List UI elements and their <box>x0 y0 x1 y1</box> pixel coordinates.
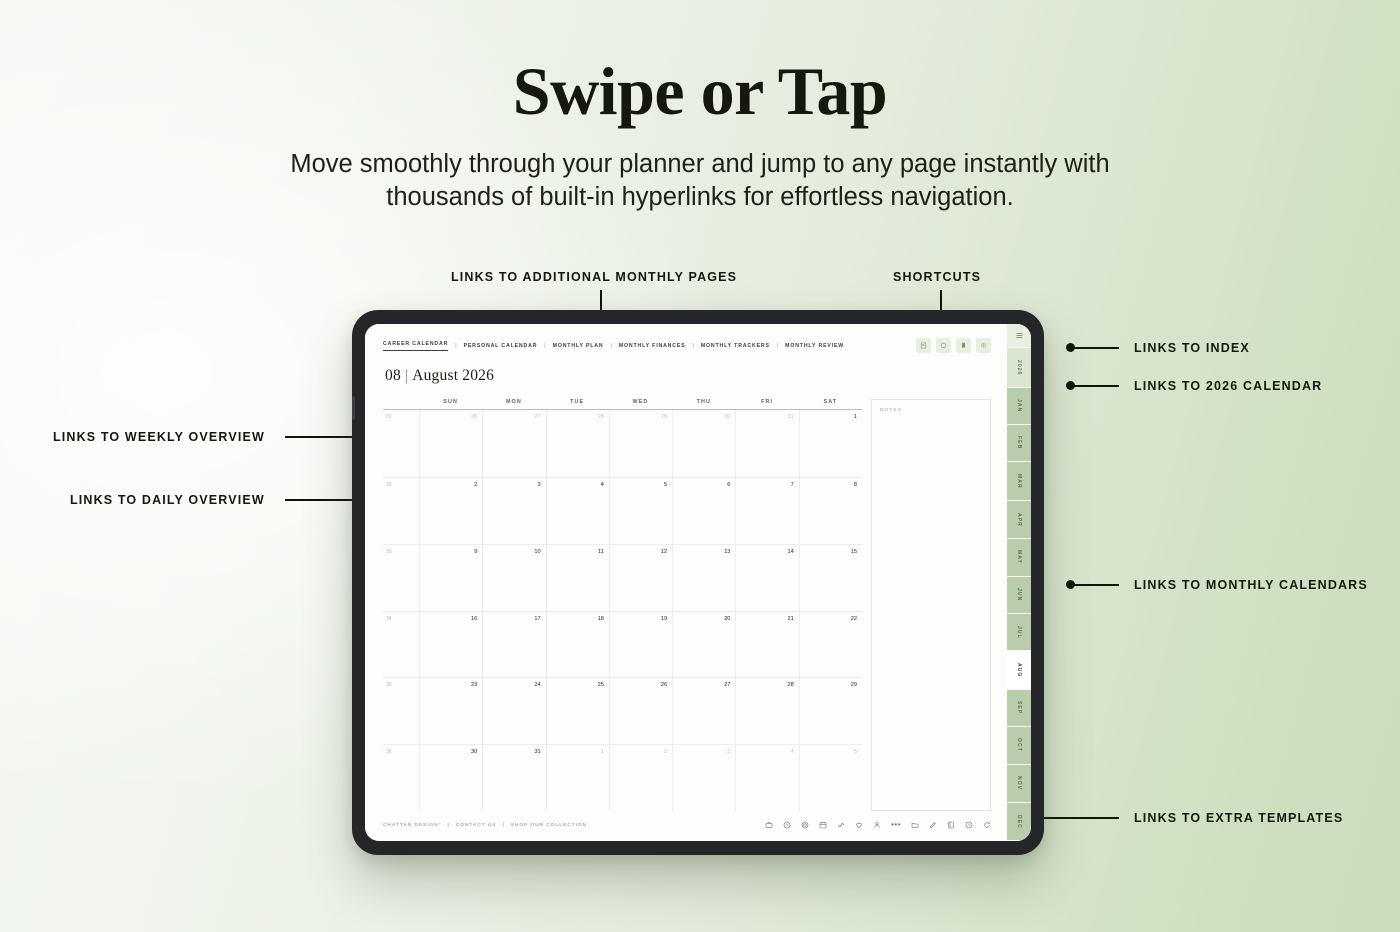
nav-link-monthly-trackers[interactable]: MONTHLY TRACKERS <box>701 343 770 349</box>
leader-line-index <box>1073 347 1119 349</box>
day-cell[interactable]: 26 <box>609 677 672 744</box>
footer-separator: | <box>447 823 449 828</box>
nav-link-monthly-plan[interactable]: MONTHLY PLAN <box>553 343 604 349</box>
leader-line-monthly-calendars <box>1073 584 1119 586</box>
rail-tab-sep[interactable]: SEP <box>1007 690 1031 727</box>
callout-links-to-extra-templates: LINKS TO EXTRA TEMPLATES <box>1134 811 1343 825</box>
settings-shortcut-icon[interactable] <box>976 338 991 353</box>
title-divider: | <box>405 367 408 384</box>
footer-link-brand[interactable]: CHATTAN DESIGN° <box>383 823 441 828</box>
day-cell[interactable]: 4 <box>735 744 798 811</box>
book-icon[interactable] <box>947 821 955 829</box>
day-cell[interactable]: 15 <box>799 544 862 611</box>
day-cell[interactable]: 8 <box>799 477 862 544</box>
rail-tab-label: OCT <box>1016 738 1022 752</box>
day-cell[interactable]: 11 <box>546 544 609 611</box>
day-cell[interactable]: 21 <box>735 611 798 678</box>
nav-separator: | <box>611 343 612 349</box>
monthly-pages-nav: CAREER CALENDAR | PERSONAL CALENDAR | MO… <box>383 338 844 351</box>
nav-link-personal-calendar[interactable]: PERSONAL CALENDAR <box>464 343 538 349</box>
day-cell[interactable]: 23 <box>419 677 482 744</box>
day-cell[interactable]: 29 <box>799 677 862 744</box>
rail-tab-label: APR <box>1016 513 1022 527</box>
month-tab-rail: 2026JANFEBMARAPRMAYJUNJULAUGSEPOCTNOVDEC <box>1007 324 1031 841</box>
rail-tab-label: JUL <box>1016 626 1022 639</box>
pencil-icon[interactable] <box>929 821 937 829</box>
callout-links-to-year-calendar: LINKS TO 2026 CALENDAR <box>1134 379 1322 393</box>
nav-link-monthly-review[interactable]: MONTHLY REVIEW <box>785 343 844 349</box>
month-name-year: August 2026 <box>412 367 494 384</box>
bookmark-shortcut-icon[interactable] <box>956 338 971 353</box>
nav-separator: | <box>777 343 778 349</box>
callout-daily-overview: LINKS TO DAILY OVERVIEW <box>70 493 265 507</box>
note-shortcut-icon[interactable] <box>916 338 931 353</box>
callout-weekly-overview: LINKS TO WEEKLY OVERVIEW <box>53 430 265 444</box>
footer-separator: | <box>502 823 504 828</box>
clock-icon[interactable] <box>783 821 791 829</box>
month-title: 08|August 2026 <box>365 353 1007 385</box>
rail-tab-aug[interactable]: AUG <box>1007 651 1031 689</box>
weekday-sat: SAT <box>799 399 862 405</box>
day-cell[interactable]: 3 <box>482 477 545 544</box>
rail-tab-label: JUN <box>1016 588 1022 601</box>
rail-tab-oct[interactable]: OCT <box>1007 727 1031 765</box>
day-cell[interactable]: 26 <box>419 410 482 477</box>
callout-links-to-monthly-calendars: LINKS TO MONTHLY CALENDARS <box>1134 578 1368 592</box>
rail-tab-feb[interactable]: FEB <box>1007 425 1031 462</box>
month-grid-wrapper: SUN MON TUE WED THU FRI SAT 312627282930… <box>383 399 862 811</box>
rail-tab-label: JAN <box>1016 399 1022 412</box>
nav-separator: | <box>544 343 545 349</box>
weekday-wed: WED <box>609 399 672 405</box>
rail-tab-nov[interactable]: NOV <box>1007 765 1031 803</box>
day-cell[interactable]: 16 <box>419 611 482 678</box>
day-cell[interactable]: 28 <box>735 677 798 744</box>
rail-tab-label: 2026 <box>1016 360 1022 376</box>
month-number: 08 <box>385 367 401 384</box>
ellipsis-icon[interactable]: ••• <box>891 823 901 827</box>
hamburger-menu-icon[interactable] <box>1007 324 1031 348</box>
heart-icon[interactable] <box>855 821 863 829</box>
rail-tab-label: DEC <box>1016 815 1022 829</box>
rail-tab-label: FEB <box>1016 436 1022 449</box>
rail-tab-apr[interactable]: APR <box>1007 501 1031 539</box>
day-cell[interactable]: 5 <box>609 477 672 544</box>
day-cell[interactable]: 24 <box>482 677 545 744</box>
tablet-device: CAREER CALENDAR | PERSONAL CALENDAR | MO… <box>352 310 1044 855</box>
week-number[interactable]: 34 <box>383 611 419 678</box>
rail-tab-dec[interactable]: DEC <box>1007 803 1031 841</box>
calendar-area: SUN MON TUE WED THU FRI SAT 312627282930… <box>365 385 1007 811</box>
weekday-mon: MON <box>482 399 545 405</box>
tablet-screen: CAREER CALENDAR | PERSONAL CALENDAR | MO… <box>365 324 1031 841</box>
day-cell[interactable]: 20 <box>672 611 735 678</box>
day-cell[interactable]: 1 <box>546 744 609 811</box>
planner-footer: CHATTAN DESIGN° | CONTACT US | SHOP OUR … <box>365 811 1007 841</box>
weekday-header-row: SUN MON TUE WED THU FRI SAT <box>383 399 862 409</box>
briefcase-icon[interactable] <box>765 821 773 829</box>
rail-tab-mar[interactable]: MAR <box>1007 462 1031 501</box>
day-cell[interactable]: 25 <box>546 677 609 744</box>
day-cell[interactable]: 28 <box>546 410 609 477</box>
callout-shortcuts: SHORTCUTS <box>893 270 981 284</box>
leader-dot-monthly-calendars <box>1066 580 1075 589</box>
notes-label: NOTES <box>880 408 982 413</box>
day-cell[interactable]: 27 <box>482 410 545 477</box>
history-icon[interactable] <box>965 821 973 829</box>
page-subtitle: Move smoothly through your planner and j… <box>220 148 1180 214</box>
planner-page: CAREER CALENDAR | PERSONAL CALENDAR | MO… <box>365 324 1007 841</box>
day-cell[interactable]: 2 <box>419 477 482 544</box>
subtitle-line-1: Move smoothly through your planner and j… <box>290 150 1109 178</box>
person-icon[interactable] <box>873 821 881 829</box>
leader-dot-year-calendar <box>1066 381 1075 390</box>
day-cell[interactable]: 12 <box>609 544 672 611</box>
planner-topbar: CAREER CALENDAR | PERSONAL CALENDAR | MO… <box>365 324 1007 353</box>
rail-tab-label: AUG <box>1016 663 1022 677</box>
refresh-icon[interactable] <box>983 821 991 829</box>
nav-link-career-calendar[interactable]: CAREER CALENDAR <box>383 341 448 351</box>
footer-link-contact-us[interactable]: CONTACT US <box>456 823 497 828</box>
footer-link-shop-collection[interactable]: SHOP OUR COLLECTION <box>511 823 587 828</box>
folder-icon[interactable] <box>911 821 919 829</box>
week-number[interactable]: 36 <box>383 744 419 811</box>
callout-links-to-index: LINKS TO INDEX <box>1134 341 1250 355</box>
page-title: Swipe or Tap <box>0 52 1400 131</box>
day-cell[interactable]: 17 <box>482 611 545 678</box>
day-cell[interactable]: 31 <box>735 410 798 477</box>
target-icon[interactable] <box>801 821 809 829</box>
day-cell[interactable]: 3 <box>672 744 735 811</box>
shortcut-buttons <box>916 338 991 353</box>
weekday-tue: TUE <box>546 399 609 405</box>
day-cell[interactable]: 22 <box>799 611 862 678</box>
subtitle-line-2: thousands of built-in hyperlinks for eff… <box>220 181 1180 214</box>
sticker-shortcut-icon[interactable] <box>936 338 951 353</box>
rail-tab-jun[interactable]: JUN <box>1007 577 1031 614</box>
week-number[interactable]: 33 <box>383 544 419 611</box>
day-cell[interactable]: 6 <box>672 477 735 544</box>
nav-separator: | <box>455 343 456 349</box>
day-cell[interactable]: 29 <box>609 410 672 477</box>
month-grid: 3126272829303113223456783391011121314153… <box>383 409 862 811</box>
rail-tab-label: MAY <box>1016 550 1022 564</box>
leader-dot-index <box>1066 343 1075 352</box>
nav-separator: | <box>693 343 694 349</box>
weekday-thu: THU <box>672 399 735 405</box>
calendar-icon[interactable] <box>819 821 827 829</box>
extra-templates-toolbar: ••• <box>765 821 991 829</box>
day-cell[interactable]: 1 <box>799 410 862 477</box>
day-cell[interactable]: 9 <box>419 544 482 611</box>
rail-tab-2026[interactable]: 2026 <box>1007 348 1031 388</box>
notes-panel[interactable]: NOTES <box>871 399 991 811</box>
day-cell[interactable]: 30 <box>672 410 735 477</box>
leader-line-year-calendar <box>1073 385 1119 387</box>
weeknum-header-spacer <box>383 399 419 405</box>
day-cell[interactable]: 2 <box>609 744 672 811</box>
day-cell[interactable]: 4 <box>546 477 609 544</box>
day-cell[interactable]: 30 <box>419 744 482 811</box>
rail-tab-jul[interactable]: JUL <box>1007 614 1031 651</box>
day-cell[interactable]: 7 <box>735 477 798 544</box>
link-icon[interactable] <box>837 821 845 829</box>
day-cell[interactable]: 14 <box>735 544 798 611</box>
footer-links: CHATTAN DESIGN° | CONTACT US | SHOP OUR … <box>383 823 587 828</box>
week-number[interactable]: 31 <box>383 410 419 477</box>
week-number[interactable]: 35 <box>383 677 419 744</box>
day-cell[interactable]: 10 <box>482 544 545 611</box>
week-number[interactable]: 32 <box>383 477 419 544</box>
day-cell[interactable]: 13 <box>672 544 735 611</box>
weekday-fri: FRI <box>735 399 798 405</box>
day-cell[interactable]: 19 <box>609 611 672 678</box>
day-cell[interactable]: 31 <box>482 744 545 811</box>
rail-tab-label: SEP <box>1016 701 1022 714</box>
nav-link-monthly-finances[interactable]: MONTHLY FINANCES <box>619 343 686 349</box>
rail-tab-list: 2026JANFEBMARAPRMAYJUNJULAUGSEPOCTNOVDEC <box>1007 348 1031 841</box>
rail-tab-label: MAR <box>1016 474 1022 489</box>
callout-additional-monthly-pages: LINKS TO ADDITIONAL MONTHLY PAGES <box>451 270 737 284</box>
day-cell[interactable]: 5 <box>799 744 862 811</box>
rail-tab-jan[interactable]: JAN <box>1007 388 1031 425</box>
rail-tab-may[interactable]: MAY <box>1007 539 1031 577</box>
day-cell[interactable]: 18 <box>546 611 609 678</box>
day-cell[interactable]: 27 <box>672 677 735 744</box>
weekday-sun: SUN <box>419 399 482 405</box>
rail-tab-label: NOV <box>1016 776 1022 790</box>
